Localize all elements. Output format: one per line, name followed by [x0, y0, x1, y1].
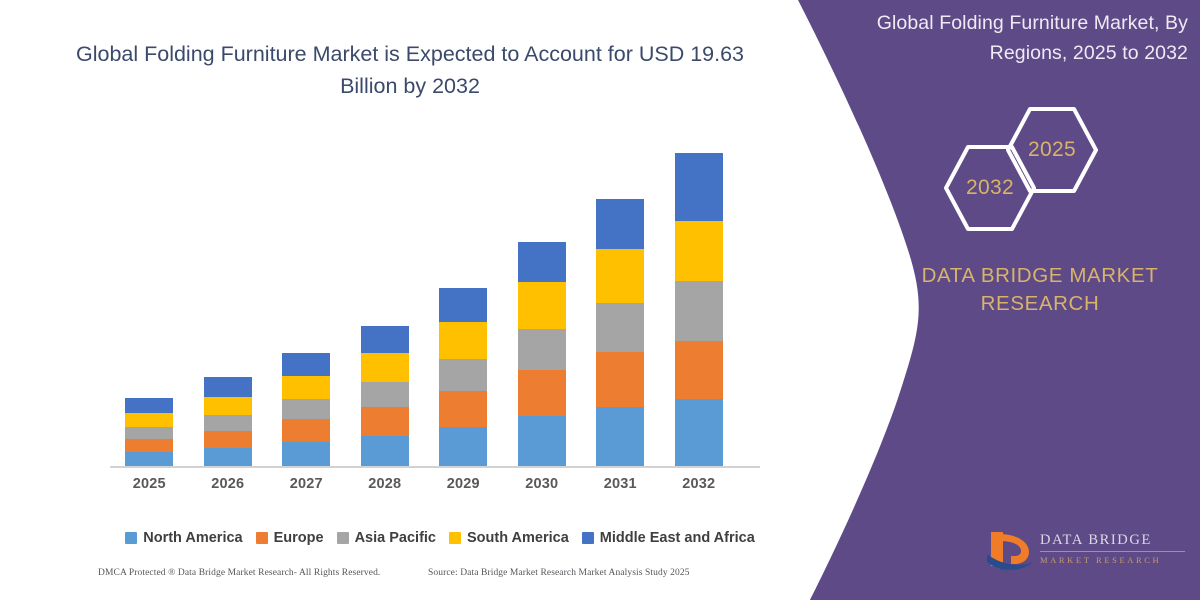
- infographic-root: Global Folding Furniture Market, By Regi…: [0, 0, 1200, 600]
- bar-segment-2025-middle-east-and-africa: [125, 398, 173, 413]
- brand-name: DATA BRIDGE MARKET RESEARCH: [905, 262, 1175, 318]
- bar-segment-2031-middle-east-and-africa: [596, 199, 644, 249]
- legend-label: North America: [143, 530, 242, 546]
- bar-segment-2026-middle-east-and-africa: [204, 377, 252, 397]
- bar-segment-2025-north-america: [125, 452, 173, 466]
- bar-segment-2032-north-america: [675, 399, 723, 466]
- legend-item-europe[interactable]: Europe: [256, 530, 324, 546]
- bar-segment-2026-south-america: [204, 397, 252, 415]
- footer-source: Source: Data Bridge Market Research Mark…: [428, 568, 690, 578]
- x-axis-label-2025: 2025: [119, 476, 179, 492]
- x-axis-label-2026: 2026: [198, 476, 258, 492]
- hexagon-group: 2032 2025: [920, 96, 1120, 236]
- logo-text-block: DATA BRIDGE MARKET RESEARCH: [1040, 532, 1185, 566]
- legend-label: Europe: [274, 530, 324, 546]
- bar-segment-2028-north-america: [361, 436, 409, 466]
- bar-2031: [596, 199, 644, 466]
- bar-segment-2030-asia-pacific: [518, 329, 566, 370]
- brand-line-1: DATA BRIDGE MARKET: [905, 262, 1175, 290]
- legend-swatch-icon: [582, 532, 594, 544]
- hexagon-2025-label: 2025: [1028, 138, 1076, 162]
- legend-item-asia-pacific[interactable]: Asia Pacific: [337, 530, 436, 546]
- bar-segment-2027-europe: [282, 419, 330, 442]
- bar-segment-2030-middle-east-and-africa: [518, 242, 566, 282]
- bar-segment-2029-middle-east-and-africa: [439, 288, 487, 322]
- bar-segment-2026-asia-pacific: [204, 415, 252, 431]
- bar-segment-2027-north-america: [282, 442, 330, 466]
- bar-2029: [439, 288, 487, 466]
- bar-segment-2032-asia-pacific: [675, 281, 723, 341]
- bar-segment-2031-south-america: [596, 249, 644, 303]
- bar-segment-2028-asia-pacific: [361, 382, 409, 407]
- bar-2027: [282, 353, 330, 466]
- logo-subtitle: MARKET RESEARCH: [1040, 555, 1185, 566]
- legend-label: Asia Pacific: [355, 530, 436, 546]
- bar-segment-2027-asia-pacific: [282, 399, 330, 419]
- legend-item-north-america[interactable]: North America: [125, 530, 242, 546]
- x-axis-label-2028: 2028: [355, 476, 415, 492]
- x-axis-label-2031: 2031: [590, 476, 650, 492]
- hexagon-2032-label: 2032: [966, 176, 1014, 200]
- bar-2025: [125, 398, 173, 466]
- bar-segment-2029-south-america: [439, 322, 487, 359]
- legend-item-south-america[interactable]: South America: [449, 530, 569, 546]
- bar-segment-2028-middle-east-and-africa: [361, 326, 409, 353]
- bar-segment-2025-south-america: [125, 413, 173, 427]
- legend-swatch-icon: [449, 532, 461, 544]
- footer: DMCA Protected ® Data Bridge Market Rese…: [0, 568, 790, 592]
- chart-legend: North AmericaEuropeAsia PacificSouth Ame…: [110, 530, 770, 546]
- bar-segment-2027-middle-east-and-africa: [282, 353, 330, 376]
- brand-line-2: RESEARCH: [905, 290, 1175, 318]
- bar-segment-2025-asia-pacific: [125, 427, 173, 439]
- bar-segment-2029-asia-pacific: [439, 359, 487, 391]
- bar-segment-2029-north-america: [439, 427, 487, 466]
- legend-label: South America: [467, 530, 569, 546]
- bar-2030: [518, 242, 566, 466]
- data-bridge-logo: DATA BRIDGE MARKET RESEARCH: [985, 528, 1185, 580]
- bar-segment-2027-south-america: [282, 376, 330, 399]
- legend-swatch-icon: [256, 532, 268, 544]
- bar-segment-2029-europe: [439, 391, 487, 427]
- bar-segment-2032-middle-east-and-africa: [675, 153, 723, 221]
- bar-segment-2028-south-america: [361, 353, 409, 382]
- bar-segment-2028-europe: [361, 407, 409, 436]
- bar-segment-2030-north-america: [518, 416, 566, 466]
- bar-2028: [361, 326, 409, 466]
- bar-segment-2030-europe: [518, 370, 566, 416]
- x-axis-labels: 20252026202720282029203020312032: [110, 476, 760, 500]
- bar-segment-2031-europe: [596, 352, 644, 407]
- footer-copyright: DMCA Protected ® Data Bridge Market Rese…: [98, 568, 380, 578]
- stacked-bar-chart: 20252026202720282029203020312032 North A…: [0, 0, 790, 600]
- legend-swatch-icon: [337, 532, 349, 544]
- hexagon-2025: 2025: [1006, 104, 1098, 196]
- x-axis-label-2032: 2032: [669, 476, 729, 492]
- bar-segment-2030-south-america: [518, 282, 566, 329]
- bar-2026: [204, 377, 252, 466]
- legend-label: Middle East and Africa: [600, 530, 755, 546]
- bar-segment-2026-north-america: [204, 448, 252, 466]
- bar-segment-2032-europe: [675, 341, 723, 399]
- logo-title: DATA BRIDGE: [1040, 532, 1185, 549]
- bar-2032: [675, 153, 723, 466]
- x-axis-label-2029: 2029: [433, 476, 493, 492]
- x-axis-label-2030: 2030: [512, 476, 572, 492]
- bar-segment-2031-north-america: [596, 407, 644, 466]
- bar-segment-2032-south-america: [675, 221, 723, 281]
- data-bridge-b-mark-icon: [985, 528, 1037, 576]
- legend-item-middle-east-and-africa[interactable]: Middle East and Africa: [582, 530, 755, 546]
- bar-segment-2026-europe: [204, 431, 252, 448]
- legend-swatch-icon: [125, 532, 137, 544]
- x-axis-label-2027: 2027: [276, 476, 336, 492]
- bar-segment-2025-europe: [125, 439, 173, 452]
- panel-title: Global Folding Furniture Market, By Regi…: [828, 8, 1188, 68]
- x-axis-line: [110, 466, 760, 468]
- logo-divider: [1040, 551, 1185, 552]
- bar-segment-2031-asia-pacific: [596, 303, 644, 352]
